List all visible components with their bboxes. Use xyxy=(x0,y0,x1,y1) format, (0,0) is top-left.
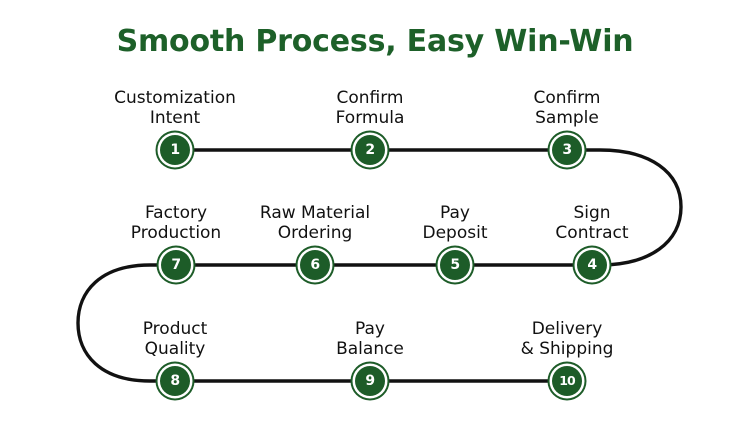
step-node-10[interactable]: 10 xyxy=(552,366,582,396)
step-node-3[interactable]: 3 xyxy=(552,135,582,165)
step-number: 10 xyxy=(559,375,574,388)
step-number: 8 xyxy=(170,374,179,388)
step-node-8[interactable]: 8 xyxy=(160,366,190,396)
step-label: Customization Intent xyxy=(70,88,280,128)
step-label: Confirm Sample xyxy=(462,88,672,128)
step-node-2[interactable]: 2 xyxy=(355,135,385,165)
step-node-7[interactable]: 7 xyxy=(161,250,191,280)
step-label: Product Quality xyxy=(70,319,280,359)
step-node-5[interactable]: 5 xyxy=(440,250,470,280)
step-number: 5 xyxy=(450,258,459,272)
step-node-9[interactable]: 9 xyxy=(355,366,385,396)
step-label: Delivery & Shipping xyxy=(462,319,672,359)
step-number: 3 xyxy=(562,143,571,157)
step-label: Factory Production xyxy=(71,203,281,243)
step-node-1[interactable]: 1 xyxy=(160,135,190,165)
step-number: 1 xyxy=(170,143,179,157)
step-number: 4 xyxy=(587,258,596,272)
step-node-6[interactable]: 6 xyxy=(300,250,330,280)
step-number: 9 xyxy=(365,374,374,388)
step-node-4[interactable]: 4 xyxy=(577,250,607,280)
step-number: 6 xyxy=(310,258,319,272)
process-diagram-canvas: Smooth Process, Easy Win-Win Customizati… xyxy=(0,0,750,430)
step-label: Confirm Formula xyxy=(265,88,475,128)
step-number: 7 xyxy=(171,258,180,272)
step-number: 2 xyxy=(365,143,374,157)
step-label: Pay Balance xyxy=(265,319,475,359)
